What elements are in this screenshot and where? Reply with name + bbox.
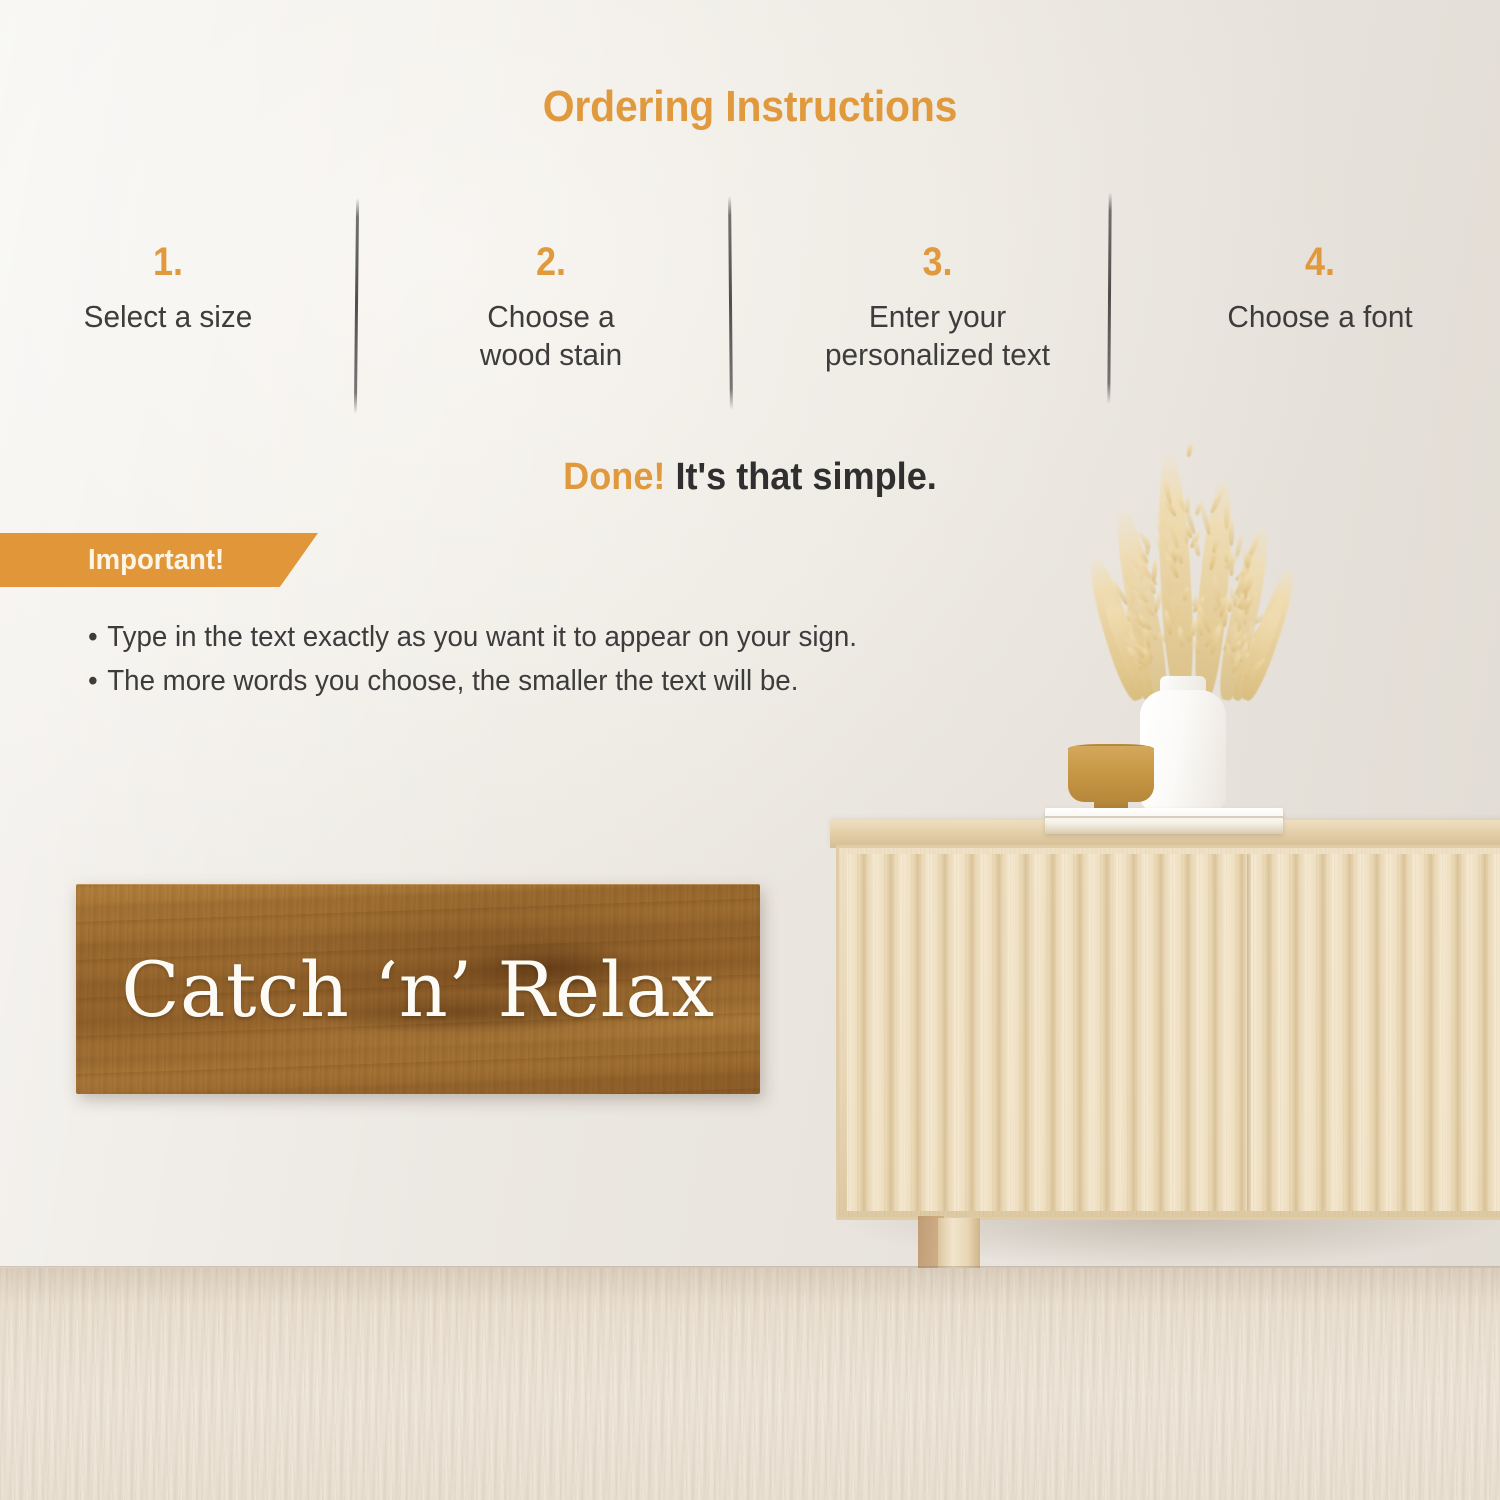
wood-floor	[0, 1268, 1500, 1500]
wooden-bowl	[1068, 746, 1154, 802]
step-number-1: 1.	[37, 242, 300, 282]
sideboard-grain	[839, 848, 1500, 1217]
step-item-1: 1. Select a size	[22, 242, 314, 336]
step-label-4: Choose a font	[1162, 298, 1479, 336]
list-item: Type in the text exactly as you want it …	[88, 615, 1139, 659]
sign-engraved-text: Catch ‘n’ Relax	[121, 945, 714, 1034]
room-scene-photo	[0, 0, 1500, 1500]
step-number-4: 4.	[1172, 242, 1469, 282]
step-label-3: Enter yourpersonalized text	[767, 298, 1108, 374]
book-stack	[1045, 808, 1283, 834]
wood-sign-product: Catch ‘n’ Relax	[76, 884, 760, 1094]
step-item-4: 4. Choose a font	[1155, 242, 1485, 336]
step-label-1: Select a size	[28, 298, 308, 336]
sideboard-fluted-body	[836, 845, 1500, 1220]
step-label-2: Choose awood stain	[418, 298, 685, 374]
step-number-2: 2.	[426, 242, 676, 282]
step-item-3: 3. Enter yourpersonalized text	[760, 242, 1115, 374]
step-item-2: 2. Choose awood stain	[412, 242, 690, 374]
sideboard-door-seam	[1247, 854, 1251, 1211]
steps-list: 1. Select a size 2. Choose awood stain 3…	[0, 236, 1500, 396]
important-banner: Important!	[0, 533, 318, 587]
list-item: The more words you choose, the smaller t…	[88, 659, 1139, 703]
step-number-3: 3.	[778, 242, 1098, 282]
done-rest: It's that simple.	[675, 456, 936, 498]
done-tagline: Done! It's that simple.	[38, 456, 1463, 499]
important-banner-label: Important!	[88, 544, 224, 577]
page-title: Ordering Instructions	[53, 82, 1448, 132]
done-highlight: Done!	[563, 456, 665, 498]
important-bullet-list: Type in the text exactly as you want it …	[88, 615, 1188, 703]
